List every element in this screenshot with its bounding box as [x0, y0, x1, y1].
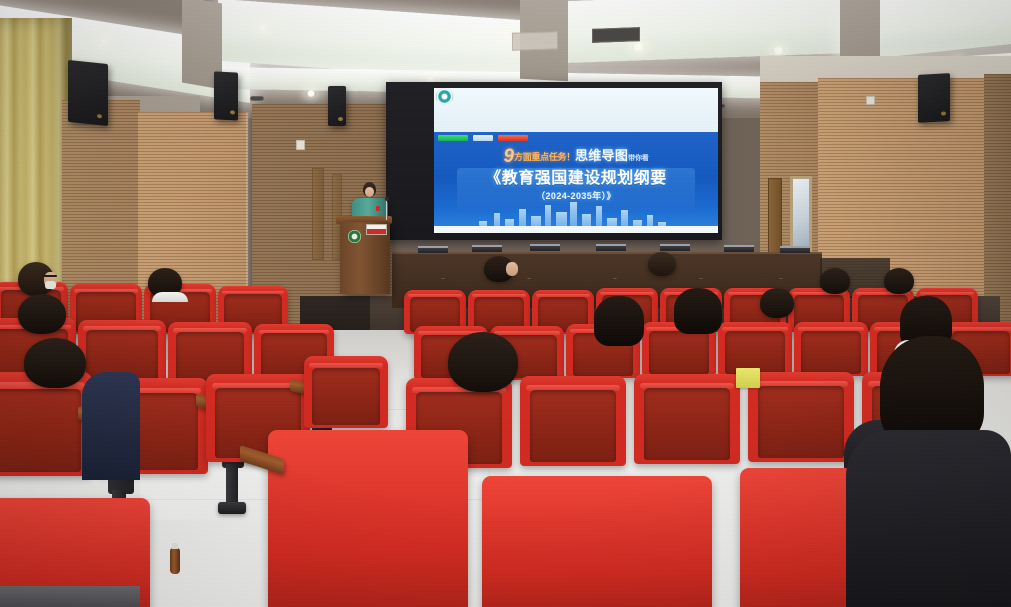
seat-inner-panel: [801, 331, 862, 374]
seat[interactable]: [634, 374, 740, 464]
audience-head: [24, 338, 86, 388]
auditorium-photo: 9方面重点任务！思维导图带你看 《教育强国建设规划纲要 （2024-2035年）…: [0, 0, 1011, 607]
slide-headline-suffix: 带你看: [628, 155, 648, 162]
audience-long-hair: [594, 296, 644, 346]
slide-brand-bar: [438, 135, 528, 141]
slide-header-band: [434, 88, 718, 132]
audience-person: [448, 332, 518, 392]
side-window: [790, 176, 812, 252]
ceiling-downlight: [632, 42, 645, 51]
seat-inner-panel: [0, 389, 81, 472]
audience-face: [506, 262, 518, 276]
wall-switch-plate-right[interactable]: [866, 96, 875, 105]
presenter-face: [365, 187, 374, 197]
audience-head: [884, 268, 914, 294]
audience-head: [18, 294, 66, 334]
eyeglasses: [44, 275, 57, 277]
podium-emblem-icon: [348, 230, 361, 243]
audience-head: [820, 268, 850, 294]
audience-long-hair: [674, 288, 722, 334]
slide-body: 9方面重点任务！思维导图带你看 《教育强国建设规划纲要 （2024-2035年）…: [434, 132, 718, 234]
head-table-nameplate: [660, 244, 690, 251]
head-table-nameplate: [596, 244, 626, 251]
head-table-nameplate: [530, 244, 560, 251]
ceiling-downlight: [256, 22, 270, 32]
red-brand-chip-icon: [498, 135, 528, 141]
seat-front-row[interactable]: [482, 476, 712, 607]
wall-switch-plate[interactable]: [296, 140, 305, 150]
ceiling-downlight: [306, 90, 316, 97]
head-table-nameplate: [780, 246, 810, 253]
seat[interactable]: [304, 356, 388, 428]
white-brand-chip-icon: [473, 135, 493, 141]
seat-inner-panel: [530, 390, 617, 462]
audience-person: [760, 288, 794, 318]
face-mask: [45, 281, 56, 289]
seat-front-row[interactable]: [268, 430, 468, 607]
head-table-nameplate: [418, 246, 448, 253]
seat-inner-panel: [312, 368, 381, 426]
ceiling-speaker-grille: [250, 96, 264, 101]
audience-shoulders: [846, 430, 1011, 607]
wall-speaker-center: [328, 86, 346, 126]
audience-person: [648, 252, 676, 276]
ceiling-downlight: [98, 36, 111, 45]
podium-nameplate: [366, 224, 387, 235]
seat-inner-panel: [644, 388, 731, 460]
head-table-nameplate: [724, 245, 754, 252]
beverage-bottle[interactable]: [170, 548, 180, 574]
slide-headline-white: 思维导图: [575, 148, 628, 163]
seat-leg: [226, 464, 238, 506]
podium-microphone: [386, 200, 387, 220]
ceiling-downlight: [772, 46, 785, 55]
seat[interactable]: [794, 322, 868, 376]
slide-header-logo-icon: [436, 89, 453, 104]
projection-screen: 9方面重点任务！思维导图带你看 《教育强国建设规划纲要 （2024-2035年）…: [434, 88, 718, 233]
yellow-paper[interactable]: [736, 368, 760, 388]
seat-base-panel: [0, 586, 140, 607]
wall-speaker-left-1: [68, 60, 108, 126]
audience-person: [884, 268, 914, 294]
slide-headline-row: 9方面重点任务！思维导图带你看: [434, 147, 718, 166]
slide-badge-number: 9: [503, 146, 514, 167]
ceiling-air-vent: [512, 31, 558, 51]
slide-title: 《教育强国建设规划纲要: [457, 171, 696, 187]
audience-person: [24, 338, 86, 388]
seat-inner-panel: [649, 331, 710, 374]
slide-footer-strip: [434, 226, 718, 233]
head-table-nameplate: [472, 245, 502, 252]
audience-person: [820, 268, 850, 294]
seat-foot: [218, 502, 246, 514]
audience-person: [18, 294, 66, 334]
green-brand-chip-icon: [438, 135, 468, 141]
audience-head: [448, 332, 518, 392]
audience-head: [648, 252, 676, 276]
audience-shoulders: [152, 292, 188, 302]
seat-inner-panel: [758, 386, 845, 458]
wall-speaker-right: [918, 73, 950, 123]
audience-shoulders: [82, 372, 140, 480]
ceiling-projector-mount: [592, 27, 640, 43]
presenter-badge: [376, 206, 380, 211]
seat[interactable]: [520, 376, 626, 466]
slide-headline-orange: 方面重点任务！: [514, 152, 575, 162]
side-door-left[interactable]: [312, 168, 324, 260]
wall-speaker-left-2: [214, 71, 238, 120]
seat[interactable]: [748, 372, 854, 462]
audience-head: [760, 288, 794, 318]
